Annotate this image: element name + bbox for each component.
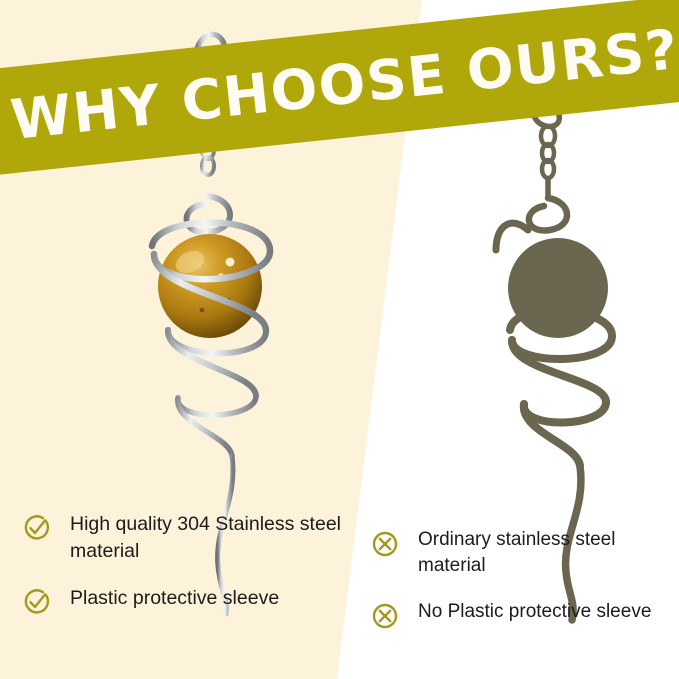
list-item-label: High quality 304 Stainless steel materia… [70, 511, 342, 565]
x-circle-icon [370, 529, 400, 559]
check-circle-icon [22, 513, 52, 543]
features-list-theirs: Ordinary stainless steel material No Pla… [370, 527, 670, 651]
list-item: Plastic protective sleeve [22, 585, 342, 617]
list-item: High quality 304 Stainless steel materia… [22, 511, 342, 565]
list-item-label: Ordinary stainless steel material [418, 527, 670, 579]
list-item: No Plastic protective sleeve [370, 599, 670, 631]
features-list-ours: High quality 304 Stainless steel materia… [22, 511, 342, 637]
list-item: Ordinary stainless steel material [370, 527, 670, 579]
check-circle-icon [22, 587, 52, 617]
list-item-label: Plastic protective sleeve [70, 585, 279, 612]
x-circle-icon [370, 601, 400, 631]
comparison-infographic: WHY CHOOSE OURS? High quality 304 Stainl… [0, 0, 679, 679]
list-item-label: No Plastic protective sleeve [418, 599, 651, 625]
